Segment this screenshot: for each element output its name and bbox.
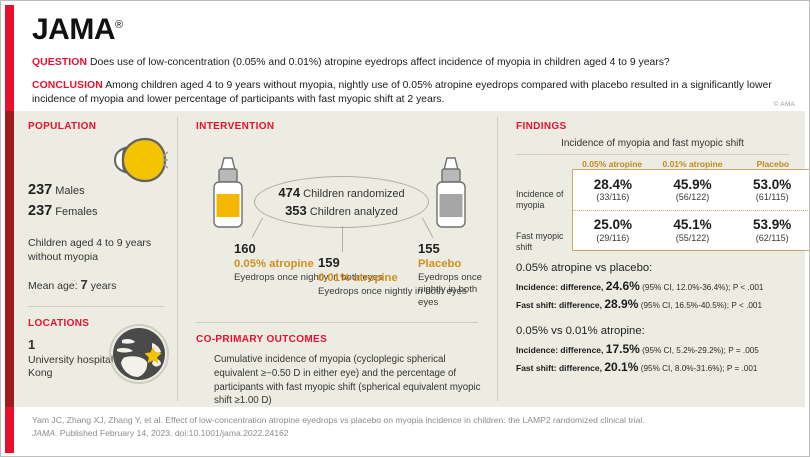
arm-n: 160 bbox=[234, 242, 383, 257]
comparison-ci: (95% CI, 16.5%-40.5%); bbox=[641, 301, 729, 310]
cell-percent: 45.9% bbox=[653, 177, 733, 193]
comparison-p: P = .005 bbox=[728, 346, 759, 355]
cell-fraction: (33/116) bbox=[573, 192, 653, 203]
registered-mark: ® bbox=[115, 19, 123, 31]
table-column-header: 0.05% atropine bbox=[572, 159, 652, 169]
co-primary-outcomes-text: Cumulative incidence of myopia (cyclople… bbox=[214, 353, 486, 408]
atropine-bottle-icon bbox=[208, 156, 248, 235]
column-divider-2 bbox=[497, 117, 498, 401]
citation-line-2: JAMA. Published February 14, 2023. doi:1… bbox=[32, 427, 795, 440]
comparison-ci: (95% CI, 8.0%-31.6%); bbox=[641, 364, 725, 373]
comparison-p: P = .001 bbox=[727, 364, 758, 373]
comparison-title: 0.05% vs 0.01% atropine: bbox=[516, 324, 795, 340]
comparison-value: 17.5% bbox=[606, 342, 640, 356]
comparison-label: Incidence: difference, bbox=[516, 345, 603, 355]
citation-footer: Yam JC, Zhang XJ, Zhang Y, et al. Effect… bbox=[14, 407, 805, 452]
conclusion-label: CONCLUSION bbox=[32, 80, 103, 91]
findings-subtitle: Incidence of myopia and fast myopic shif… bbox=[516, 138, 795, 149]
comparison-line: Fast shift: difference, 20.1% (95% CI, 8… bbox=[516, 358, 795, 377]
placebo-bottle-icon bbox=[431, 156, 471, 235]
table-column-header: Placebo bbox=[733, 159, 810, 169]
arm-n: 155 bbox=[418, 242, 486, 257]
males-count: 237 bbox=[28, 182, 52, 198]
conclusion-block: CONCLUSION Among children aged 4 to 9 ye… bbox=[32, 79, 791, 107]
mean-age-label: Mean age: bbox=[28, 280, 78, 292]
comparison-group-2: 0.05% vs 0.01% atropine: Incidence: diff… bbox=[516, 324, 795, 377]
comparison-value: 24.6% bbox=[606, 279, 640, 293]
comparison-label: Fast shift: difference, bbox=[516, 363, 602, 373]
intervention-column: INTERVENTION bbox=[180, 111, 496, 407]
analyzed-count: 353 bbox=[285, 203, 307, 218]
males-label: Males bbox=[55, 185, 84, 197]
conclusion-text: Among children aged 4 to 9 years without… bbox=[32, 80, 772, 105]
table-cell: 25.0% (29/116) bbox=[573, 217, 653, 244]
females-count: 237 bbox=[28, 203, 52, 219]
citation-line-1: Yam JC, Zhang XJ, Zhang Y, et al. Effect… bbox=[32, 414, 795, 427]
randomized-label: Children randomized bbox=[303, 188, 405, 200]
table-header-row: 0.05% atropine 0.01% atropine Placebo bbox=[516, 159, 810, 169]
females-row: 237 Females bbox=[28, 201, 168, 222]
comparison-p: P < .001 bbox=[733, 283, 764, 292]
content-band: POPULATION 237 Males 237 Females Chi bbox=[14, 111, 805, 407]
header: JAMA® QUESTION Does use of low-concentra… bbox=[14, 5, 805, 111]
citation-details: . Published February 14, 2023. doi:10.10… bbox=[55, 428, 289, 438]
comparison-ci: (95% CI, 12.0%-36.4%); bbox=[642, 283, 730, 292]
table-cell: 53.9% (62/115) bbox=[732, 217, 810, 244]
comparison-title: 0.05% atropine vs placebo: bbox=[516, 261, 795, 277]
females-label: Females bbox=[55, 206, 97, 218]
copyright-notice: © AMA bbox=[774, 101, 795, 108]
comparison-p: P < .001 bbox=[731, 301, 762, 310]
randomization-ellipse: 474 Children randomized 353 Children ana… bbox=[254, 176, 429, 228]
spine-accent-middle bbox=[5, 111, 14, 407]
visual-abstract: JAMA® QUESTION Does use of low-concentra… bbox=[0, 0, 810, 457]
globe-icon bbox=[108, 323, 170, 390]
table-row: 28.4% (33/116) 45.9% (56/122) 53.0% (61/… bbox=[573, 170, 810, 210]
question-label: QUESTION bbox=[32, 57, 87, 68]
table-row-label: Fast myopic shift bbox=[516, 231, 570, 253]
table-cell: 28.4% (33/116) bbox=[573, 177, 653, 204]
population-column: POPULATION 237 Males 237 Females Chi bbox=[14, 111, 176, 407]
co-primary-outcomes-heading: CO-PRIMARY OUTCOMES bbox=[196, 334, 486, 345]
jama-logo-text: JAMA bbox=[32, 13, 115, 46]
table-body: 28.4% (33/116) 45.9% (56/122) 53.0% (61/… bbox=[572, 169, 810, 251]
comparison-label: Incidence: difference, bbox=[516, 282, 603, 292]
findings-rule bbox=[516, 154, 789, 155]
cell-percent: 53.0% bbox=[732, 177, 810, 193]
cell-fraction: (61/115) bbox=[732, 192, 810, 203]
intervention-divider bbox=[196, 322, 478, 323]
comparison-ci: (95% CI, 5.2%-29.2%); bbox=[642, 346, 726, 355]
findings-column: FINDINGS Incidence of myopia and fast my… bbox=[500, 111, 805, 407]
citation-journal: JAMA bbox=[32, 428, 55, 438]
analyzed-line: 353 Children analyzed bbox=[285, 202, 398, 220]
comparison-label: Fast shift: difference, bbox=[516, 300, 602, 310]
randomized-count: 474 bbox=[278, 185, 300, 200]
table-row: 25.0% (29/116) 45.1% (55/122) 53.9% (62/… bbox=[573, 210, 810, 250]
cell-fraction: (56/122) bbox=[653, 192, 733, 203]
cell-percent: 28.4% bbox=[573, 177, 653, 193]
arm-placebo: 155 Placebo Eyedrops once nightly in bot… bbox=[418, 242, 486, 309]
table-cell: 45.9% (56/122) bbox=[653, 177, 733, 204]
mean-age: Mean age: 7 years bbox=[28, 277, 168, 292]
table-row-label: Incidence of myopia bbox=[516, 189, 570, 211]
spine-accent-top bbox=[5, 5, 14, 111]
table-cell: 45.1% (55/122) bbox=[653, 217, 733, 244]
comparison-line: Incidence: difference, 24.6% (95% CI, 12… bbox=[516, 277, 795, 296]
comparison-line: Incidence: difference, 17.5% (95% CI, 5.… bbox=[516, 340, 795, 359]
mean-age-unit: years bbox=[91, 280, 117, 292]
cell-percent: 53.9% bbox=[732, 217, 810, 233]
intervention-heading: INTERVENTION bbox=[196, 121, 486, 132]
comparison-line: Fast shift: difference, 28.9% (95% CI, 1… bbox=[516, 295, 795, 314]
spine-accent-bottom bbox=[5, 407, 14, 453]
table-column-header: 0.01% atropine bbox=[652, 159, 732, 169]
jama-logo: JAMA® bbox=[32, 15, 791, 45]
table-cell: 53.0% (61/115) bbox=[732, 177, 810, 204]
cell-percent: 25.0% bbox=[573, 217, 653, 233]
column-divider-1 bbox=[177, 117, 178, 401]
comparison-group-1: 0.05% atropine vs placebo: Incidence: di… bbox=[516, 261, 795, 314]
cell-fraction: (62/115) bbox=[732, 233, 810, 244]
findings-heading: FINDINGS bbox=[516, 121, 795, 132]
cell-fraction: (29/116) bbox=[573, 233, 653, 244]
cell-fraction: (55/122) bbox=[653, 233, 733, 244]
findings-table: 0.05% atropine 0.01% atropine Placebo In… bbox=[516, 159, 810, 251]
population-heading: POPULATION bbox=[28, 121, 168, 132]
intervention-diagram: 474 Children randomized 353 Children ana… bbox=[196, 138, 486, 320]
arm-detail: Eyedrops once nightly in both eyes bbox=[418, 272, 486, 309]
comparison-value: 20.1% bbox=[604, 360, 638, 374]
table-header-spacer bbox=[516, 159, 572, 169]
question-block: QUESTION Does use of low-concentration (… bbox=[32, 56, 791, 70]
question-text: Does use of low-concentration (0.05% and… bbox=[90, 57, 670, 68]
arm-title: Placebo bbox=[418, 257, 486, 272]
mean-age-value: 7 bbox=[81, 277, 88, 292]
population-note: Children aged 4 to 9 years without myopi… bbox=[28, 236, 168, 264]
population-divider bbox=[28, 306, 164, 307]
connector-left bbox=[252, 218, 263, 238]
comparison-value: 28.9% bbox=[604, 297, 638, 311]
randomized-line: 474 Children randomized bbox=[278, 184, 404, 202]
analyzed-label: Children analyzed bbox=[310, 206, 398, 218]
cell-percent: 45.1% bbox=[653, 217, 733, 233]
eye-icon bbox=[106, 135, 168, 190]
